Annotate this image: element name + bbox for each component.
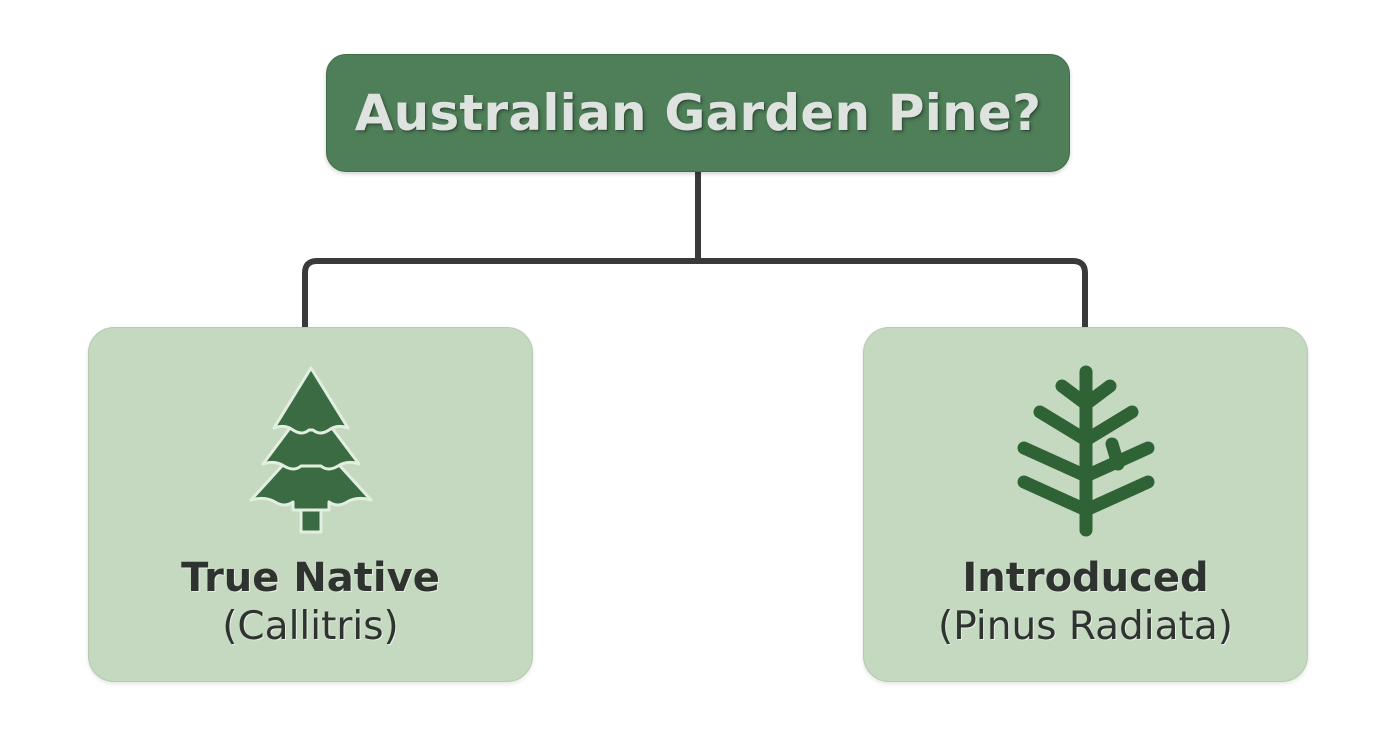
conifer-tree-solid-icon	[231, 360, 391, 540]
root-node-australian-garden-pine[interactable]: Australian Garden Pine?	[326, 54, 1070, 172]
branch-subtitle: (Callitris)	[181, 605, 440, 649]
connector-bus	[305, 261, 1085, 330]
branch-card-text-true-native: True Native (Callitris)	[181, 556, 440, 648]
branch-subtitle: (Pinus Radiata)	[938, 605, 1233, 649]
branch-card-introduced[interactable]: Introduced (Pinus Radiata)	[863, 327, 1308, 682]
branch-card-text-introduced: Introduced (Pinus Radiata)	[938, 556, 1233, 648]
pine-branch-outline-icon	[1006, 360, 1166, 540]
branch-title: True Native	[181, 556, 440, 601]
branch-title: Introduced	[938, 556, 1233, 601]
diagram-canvas: Australian Garden Pine? True Native (Cal…	[0, 0, 1392, 752]
root-node-label: Australian Garden Pine?	[355, 84, 1041, 142]
branch-card-true-native[interactable]: True Native (Callitris)	[88, 327, 533, 682]
